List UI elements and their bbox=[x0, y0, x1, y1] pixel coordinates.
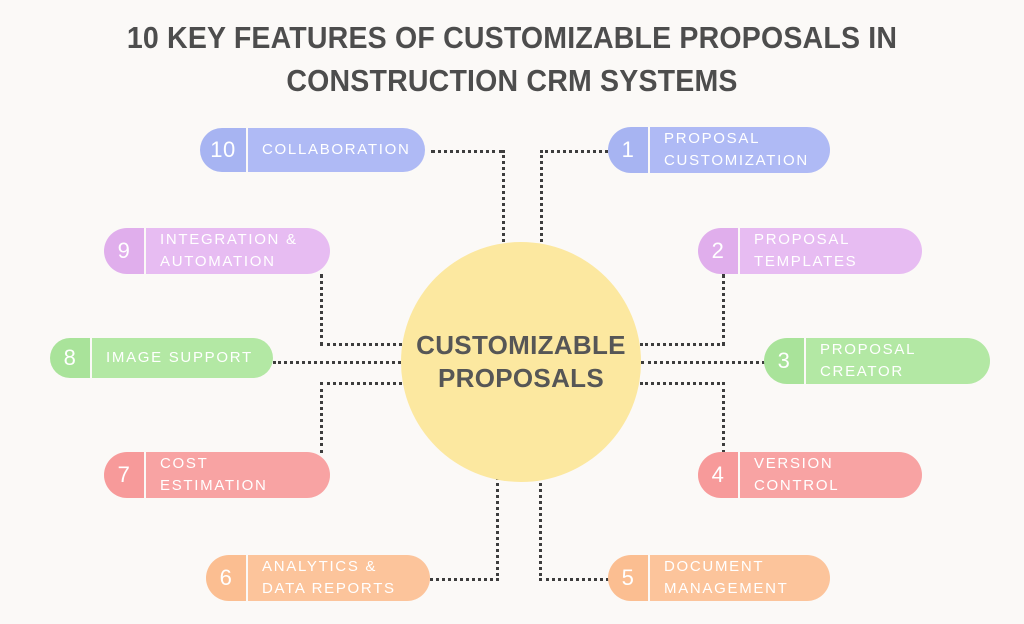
feature-label-7: COST ESTIMATION bbox=[146, 452, 330, 498]
feature-label-2: PROPOSAL TEMPLATES bbox=[740, 228, 922, 274]
connector-9-horizontal bbox=[320, 343, 402, 346]
feature-item-5[interactable]: 5 DOCUMENT MANAGEMENT bbox=[608, 555, 830, 601]
feature-item-3[interactable]: 3 PROPOSAL CREATOR bbox=[764, 338, 990, 384]
feature-number-8: 8 bbox=[50, 338, 92, 378]
connector-4-horizontal bbox=[640, 382, 725, 385]
feature-item-9[interactable]: 9 INTEGRATION & AUTOMATION bbox=[104, 228, 330, 274]
feature-label-3: PROPOSAL CREATOR bbox=[806, 338, 990, 384]
feature-label-10: COLLABORATION bbox=[248, 128, 425, 172]
connector-10-horizontal bbox=[431, 150, 503, 153]
center-node: CUSTOMIZABLE PROPOSALS bbox=[401, 242, 641, 482]
feature-item-8[interactable]: 8 IMAGE SUPPORT bbox=[50, 338, 273, 378]
feature-number-1: 1 bbox=[608, 127, 650, 173]
page-title: 10 KEY FEATURES OF CUSTOMIZABLE PROPOSAL… bbox=[41, 16, 983, 102]
connector-1-vertical bbox=[540, 150, 543, 254]
feature-item-4[interactable]: 4 VERSION CONTROL bbox=[698, 452, 922, 498]
feature-number-7: 7 bbox=[104, 452, 146, 498]
connector-3-horizontal bbox=[641, 361, 765, 364]
feature-number-4: 4 bbox=[698, 452, 740, 498]
feature-item-7[interactable]: 7 COST ESTIMATION bbox=[104, 452, 330, 498]
feature-label-8: IMAGE SUPPORT bbox=[92, 338, 273, 378]
connector-4-vertical bbox=[722, 382, 725, 453]
connector-7-vertical bbox=[320, 382, 323, 453]
feature-label-4: VERSION CONTROL bbox=[740, 452, 922, 498]
feature-item-10[interactable]: 10 COLLABORATION bbox=[200, 128, 425, 172]
center-node-label: CUSTOMIZABLE PROPOSALS bbox=[416, 329, 626, 395]
connector-5-vertical bbox=[539, 472, 542, 581]
connector-7-horizontal bbox=[320, 382, 402, 385]
feature-item-1[interactable]: 1 PROPOSAL CUSTOMIZATION bbox=[608, 127, 830, 173]
feature-number-5: 5 bbox=[608, 555, 650, 601]
connector-9-vertical bbox=[320, 274, 323, 346]
feature-item-2[interactable]: 2 PROPOSAL TEMPLATES bbox=[698, 228, 922, 274]
feature-label-9: INTEGRATION & AUTOMATION bbox=[146, 228, 330, 274]
connector-6-horizontal bbox=[430, 578, 499, 581]
feature-label-1: PROPOSAL CUSTOMIZATION bbox=[650, 127, 830, 173]
feature-number-9: 9 bbox=[104, 228, 146, 274]
feature-number-10: 10 bbox=[200, 128, 248, 172]
connector-5-horizontal bbox=[539, 578, 609, 581]
feature-item-6[interactable]: 6 ANALYTICS & DATA REPORTS bbox=[206, 555, 430, 601]
connector-2-horizontal bbox=[640, 343, 725, 346]
feature-number-6: 6 bbox=[206, 555, 248, 601]
connector-1-horizontal bbox=[540, 150, 608, 153]
feature-number-3: 3 bbox=[764, 338, 806, 384]
connector-8-horizontal bbox=[273, 361, 401, 364]
connector-10-vertical bbox=[502, 150, 505, 254]
connector-6-vertical bbox=[496, 472, 499, 581]
feature-number-2: 2 bbox=[698, 228, 740, 274]
connector-2-vertical bbox=[722, 274, 725, 346]
infographic-canvas: 10 KEY FEATURES OF CUSTOMIZABLE PROPOSAL… bbox=[0, 0, 1024, 624]
feature-label-5: DOCUMENT MANAGEMENT bbox=[650, 555, 830, 601]
feature-label-6: ANALYTICS & DATA REPORTS bbox=[248, 555, 430, 601]
